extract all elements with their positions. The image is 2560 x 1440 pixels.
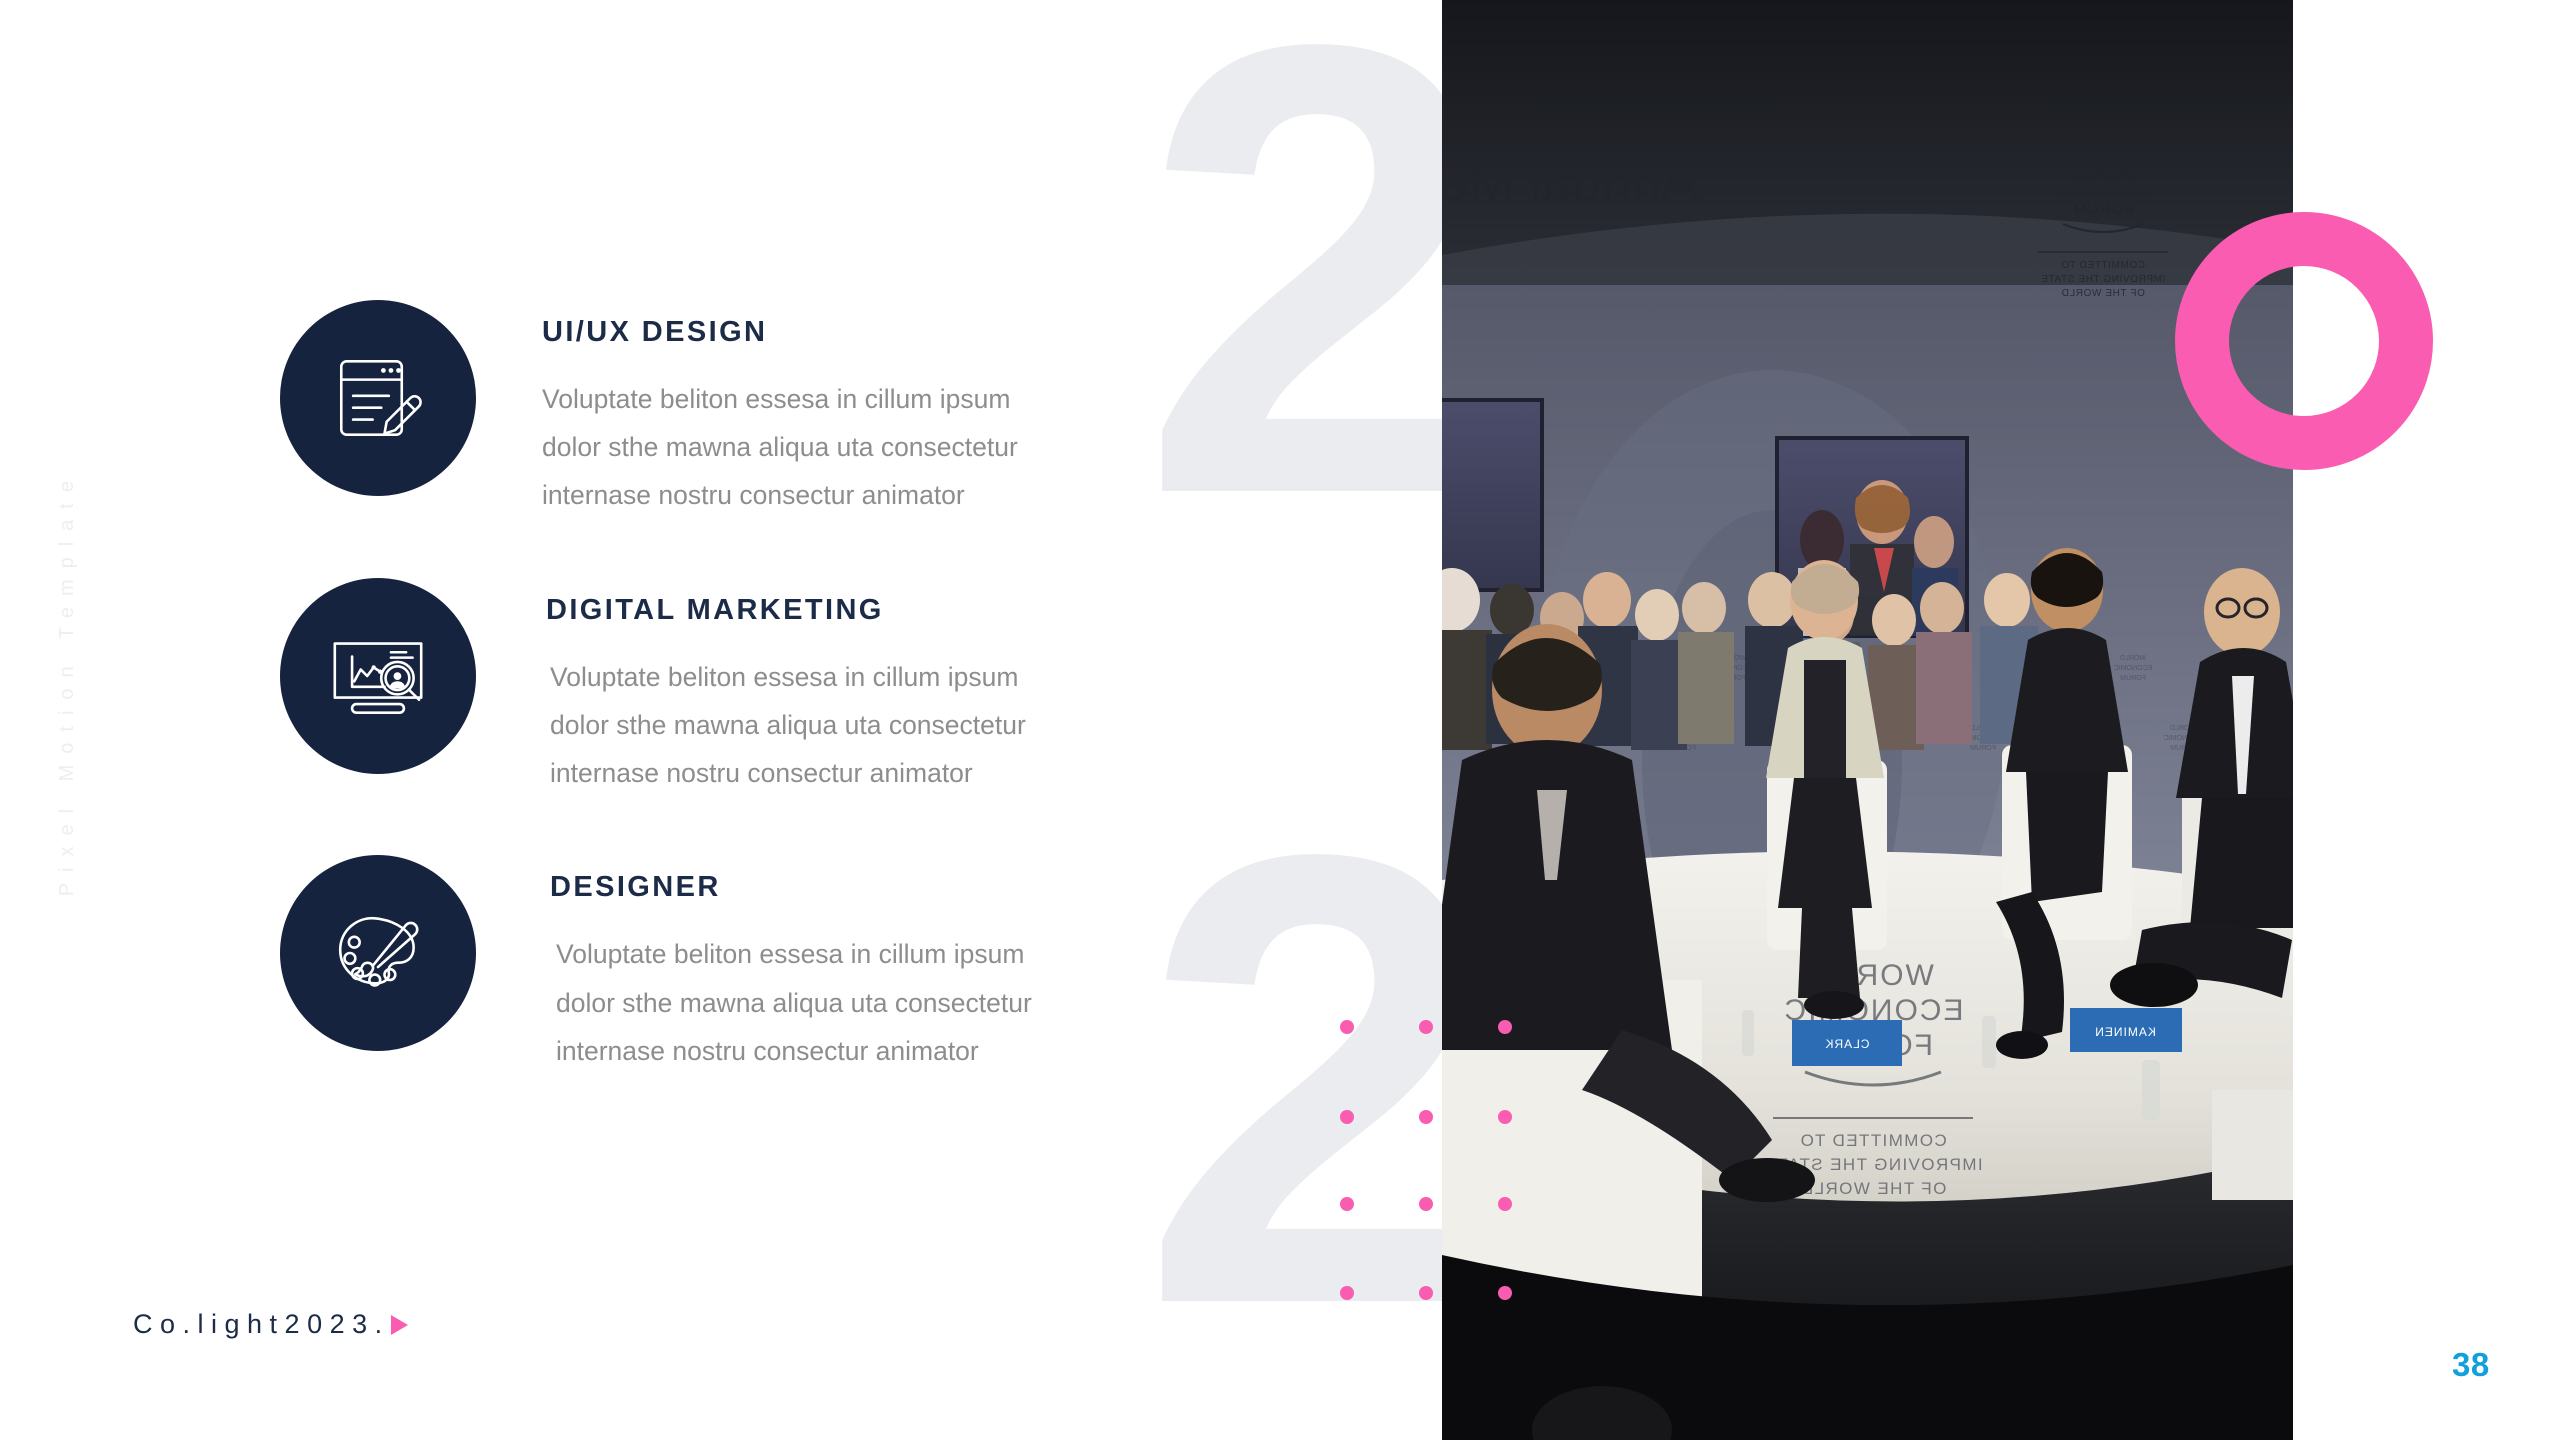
- grid-dot: [1419, 1197, 1433, 1211]
- grid-dot: [1419, 1110, 1433, 1124]
- watermark-digit-top: 2: [1140, 20, 1474, 519]
- grid-dot: [1498, 1197, 1512, 1211]
- feature-item-designer[interactable]: DESIGNER Voluptate beliton essesa in cil…: [280, 855, 1120, 1075]
- svg-text:OF THE WORLD: OF THE WORLD: [1800, 1179, 1947, 1198]
- svg-text:CLARK: CLARK: [1824, 1037, 1869, 1051]
- paint-palette-icon: [280, 855, 476, 1051]
- feature-body-digital-marketing: Voluptate beliton essesa in cillum ipsum…: [546, 653, 1026, 798]
- feature-item-uiux[interactable]: UI/UX DESIGN Voluptate beliton essesa in…: [280, 300, 1120, 520]
- feature-body-line: dolor sthe mawna aliqua uta consectetur: [542, 423, 1018, 471]
- feature-body-line: dolor sthe mawna aliqua uta consectetur: [550, 701, 1026, 749]
- feature-list: UI/UX DESIGN Voluptate beliton essesa in…: [280, 300, 1120, 1075]
- brand-logo[interactable]: Co.light2023.: [133, 1309, 408, 1340]
- feature-title-uiux: UI/UX DESIGN: [542, 316, 1018, 349]
- feature-body-line: Voluptate beliton essesa in cillum ipsum: [550, 653, 1026, 701]
- svg-text:IMPROVING THE STATE: IMPROVING THE STATE: [2041, 274, 2166, 285]
- svg-text:ECONOMIC: ECONOMIC: [2058, 183, 2149, 200]
- grid-dot: [1498, 1286, 1512, 1300]
- feature-body-uiux: Voluptate beliton essesa in cillum ipsum…: [542, 375, 1018, 520]
- grid-dot: [1340, 1110, 1354, 1124]
- svg-text:ECONOMIC: ECONOMIC: [2114, 665, 2153, 672]
- feature-body-line: internase nostru consectur animator: [556, 1027, 1032, 1075]
- grid-dot: [1419, 1020, 1433, 1034]
- grid-dot: [1340, 1286, 1354, 1300]
- feature-body-line: dolor sthe mawna aliqua uta consectetur: [556, 979, 1032, 1027]
- feature-text-designer: DESIGNER Voluptate beliton essesa in cil…: [476, 855, 1032, 1075]
- grid-dot: [1340, 1020, 1354, 1034]
- side-vertical-label: Pixel Motion Template: [56, 470, 79, 896]
- svg-text:OF THE WORLD: OF THE WORLD: [2061, 288, 2145, 299]
- svg-text:FORUM: FORUM: [2073, 201, 2133, 218]
- feature-body-line: internase nostru consectur animator: [550, 749, 1026, 797]
- analytics-monitor-icon: [280, 578, 476, 774]
- svg-text:FORUM: FORUM: [2120, 675, 2146, 682]
- play-triangle-icon: [391, 1315, 408, 1335]
- grid-dot: [1419, 1286, 1433, 1300]
- feature-body-line: Voluptate beliton essesa in cillum ipsum: [542, 375, 1018, 423]
- svg-text:WORLD: WORLD: [2073, 165, 2134, 182]
- grid-dot: [1498, 1020, 1512, 1034]
- svg-text:COMMITTED TO: COMMITTED TO: [2061, 260, 2145, 271]
- browser-pencil-icon: [280, 300, 476, 496]
- feature-item-digital-marketing[interactable]: DIGITAL MARKETING Voluptate beliton esse…: [280, 578, 1120, 798]
- grid-dot: [1498, 1110, 1512, 1124]
- page-number: 38: [2452, 1346, 2490, 1384]
- svg-text:FORUM: FORUM: [1970, 745, 1996, 752]
- pink-ring-accent: [2175, 212, 2433, 470]
- brand-logo-text: Co.light2023.: [133, 1309, 390, 1340]
- feature-text-uiux: UI/UX DESIGN Voluptate beliton essesa in…: [476, 300, 1018, 520]
- feature-body-line: internase nostru consectur animator: [542, 471, 1018, 519]
- svg-text:Annual Meeting 2019: Annual Meeting 2019: [1442, 152, 1698, 212]
- grid-dot: [1340, 1197, 1354, 1211]
- svg-text:KAMINEN: KAMINEN: [2094, 1025, 2156, 1039]
- feature-body-designer: Voluptate beliton essesa in cillum ipsum…: [550, 930, 1032, 1075]
- svg-text:COMMITTED TO: COMMITTED TO: [1799, 1131, 1946, 1150]
- feature-title-digital-marketing: DIGITAL MARKETING: [546, 594, 1026, 627]
- feature-text-digital-marketing: DIGITAL MARKETING Voluptate beliton esse…: [476, 578, 1026, 798]
- dot-grid-decoration: [1340, 1020, 1620, 1310]
- feature-body-line: Voluptate beliton essesa in cillum ipsum: [556, 930, 1032, 978]
- svg-text:WORLD: WORLD: [2120, 655, 2146, 662]
- feature-title-designer: DESIGNER: [550, 871, 1032, 904]
